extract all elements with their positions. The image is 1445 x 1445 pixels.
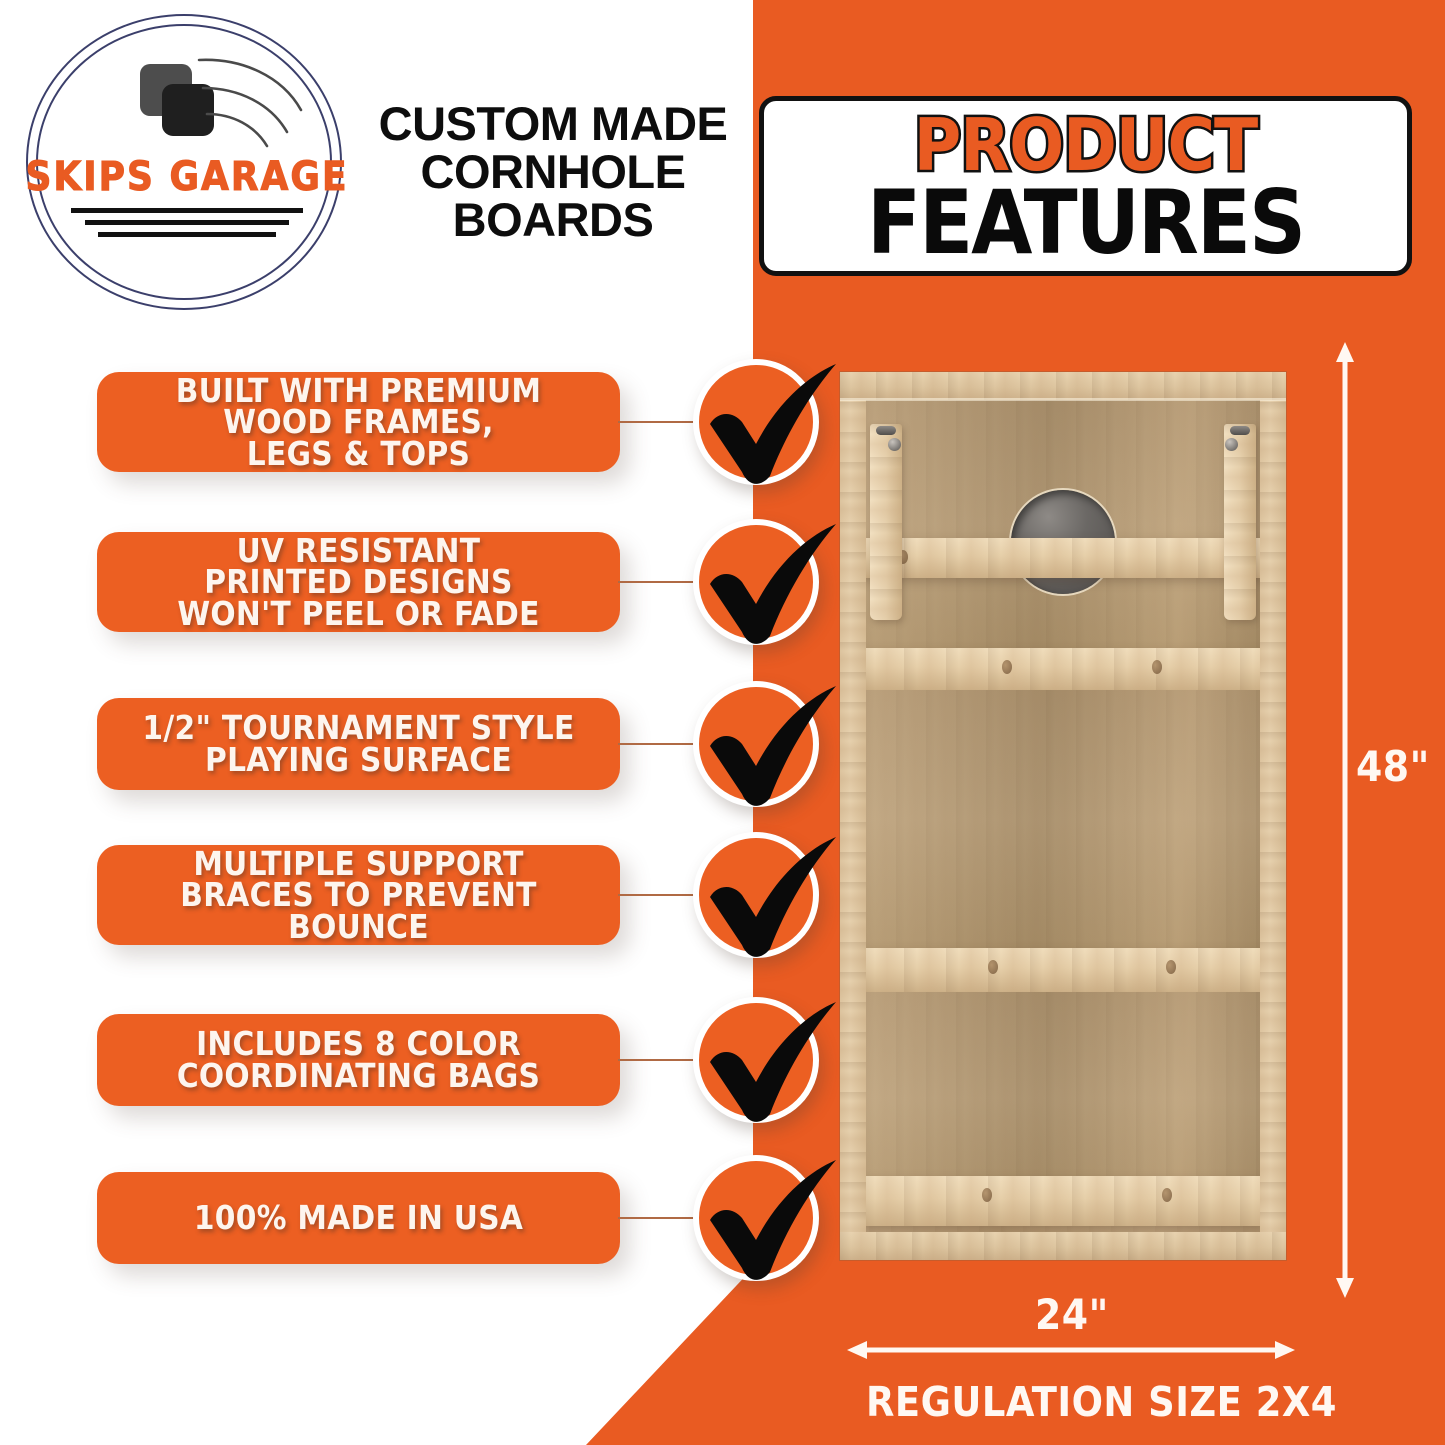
connector-line <box>618 1217 696 1219</box>
screw-icon <box>1002 660 1012 674</box>
connector-line <box>618 421 696 423</box>
feature-row: UV RESISTANT PRINTED DESIGNS WON'T PEEL … <box>0 530 840 690</box>
feature-label: INCLUDES 8 COLOR COORDINATING BAGS <box>177 1028 540 1091</box>
connector-line <box>618 581 696 583</box>
regulation-size-note: REGULATION SIZE 2X4 <box>758 1378 1445 1426</box>
logo-underlines <box>22 208 352 244</box>
check-badge-circle <box>693 681 819 807</box>
brand-logo: SKIPS GARAGE <box>22 12 352 312</box>
leg-washer-right <box>1225 438 1238 451</box>
logo-underline-1 <box>71 208 303 213</box>
logo-wordmark: SKIPS GARAGE <box>22 157 352 197</box>
feature-label: UV RESISTANT PRINTED DESIGNS WON'T PEEL … <box>177 535 539 630</box>
screw-icon <box>982 1188 992 1202</box>
product-photo-cornhole-board <box>840 372 1286 1260</box>
connector-line <box>618 743 696 745</box>
board-rail-right <box>1260 372 1286 1260</box>
feature-row: MULTIPLE SUPPORT BRACES TO PREVENT BOUNC… <box>0 845 840 1005</box>
folded-leg-left <box>870 424 902 620</box>
feature-row: 100% MADE IN USA <box>0 1172 840 1332</box>
feature-label: 100% MADE IN USA <box>194 1202 523 1234</box>
logo-underline-3 <box>98 232 276 237</box>
feature-row: 1/2" TOURNAMENT STYLE PLAYING SURFACE <box>0 692 840 852</box>
leg-bolt-left <box>876 426 896 435</box>
board-rail-top <box>840 372 1286 400</box>
feature-pill: BUILT WITH PREMIUM WOOD FRAMES, LEGS & T… <box>97 372 620 472</box>
feature-pill: MULTIPLE SUPPORT BRACES TO PREVENT BOUNC… <box>97 845 620 945</box>
check-badge-circle <box>693 997 819 1123</box>
logo-underline-2 <box>85 220 289 225</box>
height-dimension-arrow <box>1322 340 1368 1300</box>
board-middle-cavity <box>866 690 1260 948</box>
feature-label: MULTIPLE SUPPORT BRACES TO PREVENT BOUNC… <box>180 848 536 943</box>
leg-washer-left <box>888 438 901 451</box>
folded-leg-right <box>1224 424 1256 620</box>
check-badge-circle <box>693 519 819 645</box>
check-badge-circle <box>693 1155 819 1281</box>
feature-pill: 1/2" TOURNAMENT STYLE PLAYING SURFACE <box>97 698 620 790</box>
screw-icon <box>988 960 998 974</box>
board-lower-cavity <box>866 992 1260 1204</box>
feature-pill: UV RESISTANT PRINTED DESIGNS WON'T PEEL … <box>97 532 620 632</box>
feature-row: INCLUDES 8 COLOR COORDINATING BAGS <box>0 1008 840 1168</box>
feature-pill: INCLUDES 8 COLOR COORDINATING BAGS <box>97 1014 620 1106</box>
board-top-edge-highlight <box>840 398 1286 401</box>
board-end-brace <box>862 1176 1264 1226</box>
feature-label: BUILT WITH PREMIUM WOOD FRAMES, LEGS & T… <box>176 375 542 470</box>
height-dimension-label: 48" <box>1356 742 1430 791</box>
feature-label: 1/2" TOURNAMENT STYLE PLAYING SURFACE <box>142 712 574 775</box>
connector-line <box>618 894 696 896</box>
board-support-brace <box>862 948 1264 992</box>
board-rail-left <box>840 372 866 1260</box>
screw-icon <box>1152 660 1162 674</box>
check-badge-circle <box>693 359 819 485</box>
screw-icon <box>1166 960 1176 974</box>
page-title: CUSTOM MADE CORNHOLE BOARDS <box>355 100 751 244</box>
badge-line-features: FEATURES <box>764 179 1407 267</box>
infographic-page: SKIPS GARAGE CUSTOM MADE CORNHOLE BOARDS… <box>0 0 1445 1445</box>
board-support-brace <box>862 538 1264 578</box>
board-rail-bottom <box>840 1232 1286 1260</box>
leg-bolt-right <box>1230 426 1250 435</box>
feature-pill: 100% MADE IN USA <box>97 1172 620 1264</box>
width-dimension-arrow <box>845 1330 1297 1370</box>
board-support-brace <box>862 648 1264 690</box>
check-badge-circle <box>693 832 819 958</box>
motion-arcs-icon <box>197 52 307 152</box>
connector-line <box>618 1059 696 1061</box>
product-features-badge: PRODUCT FEATURES <box>759 96 1412 276</box>
feature-row: BUILT WITH PREMIUM WOOD FRAMES, LEGS & T… <box>0 370 840 530</box>
screw-icon <box>1162 1188 1172 1202</box>
